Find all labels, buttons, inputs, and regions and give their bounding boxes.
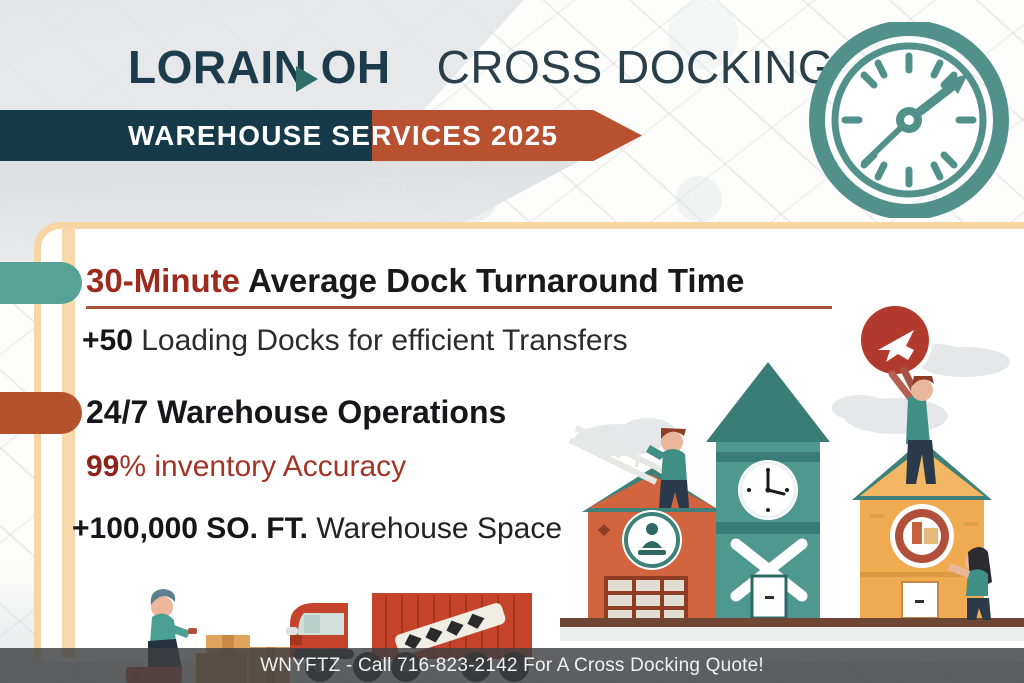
gear-icon — [300, 188, 336, 224]
footer-bar: WNYFTZ - Call 716-823-2142 For A Cross D… — [0, 648, 1024, 683]
stat-text: Average Dock Turnaround Time — [240, 262, 744, 299]
footer-contact-text: WNYFTZ - Call 716-823-2142 For A Cross D… — [260, 655, 764, 677]
circle-decor-icon — [452, 178, 496, 222]
stat-text: Loading Docks for efficient Transfers — [133, 324, 628, 357]
stat-inventory-accuracy: 99% inventory Accuracy — [86, 450, 406, 484]
stat-text: Warehouse Space — [308, 512, 562, 545]
accent-tab-rust — [0, 392, 82, 434]
stat-dock-turnaround: 30-Minute Average Dock Turnaround Time — [86, 262, 744, 300]
banner-label: WAREHOUSE SERVICES 2025 — [128, 110, 558, 161]
clock-gauge-icon — [806, 22, 1012, 218]
stat-highlight: +50 — [82, 324, 133, 357]
title-service: CROSS DOCKING — [437, 41, 835, 93]
stat-highlight: 30-Minute — [86, 262, 240, 299]
stat-highlight: 99 — [86, 450, 119, 483]
stat-highlight: +100,000 SO. FT. — [72, 512, 308, 545]
triangle-marker-icon — [296, 66, 318, 92]
stat-text: % inventory Accuracy — [119, 450, 406, 483]
stat-warehouse-space: +100,000 SO. FT. Warehouse Space — [72, 512, 562, 546]
page-title: LORAIN OHCROSS DOCKING — [128, 44, 834, 90]
infographic-canvas: LORAIN OHCROSS DOCKING WAREHOUSE SERVICE… — [0, 0, 1024, 683]
accent-tab-teal — [0, 262, 82, 304]
stat-divider-rule — [86, 306, 832, 309]
circle-decor-icon — [676, 176, 722, 222]
warehouse-illustration — [560, 300, 1024, 650]
title-location: LORAIN OH — [128, 41, 391, 93]
stat-warehouse-operations: 24/7 Warehouse Operations — [86, 394, 506, 431]
banner: WAREHOUSE SERVICES 2025 — [0, 110, 642, 161]
stat-loading-docks: +50 Loading Docks for efficient Transfer… — [82, 324, 628, 358]
